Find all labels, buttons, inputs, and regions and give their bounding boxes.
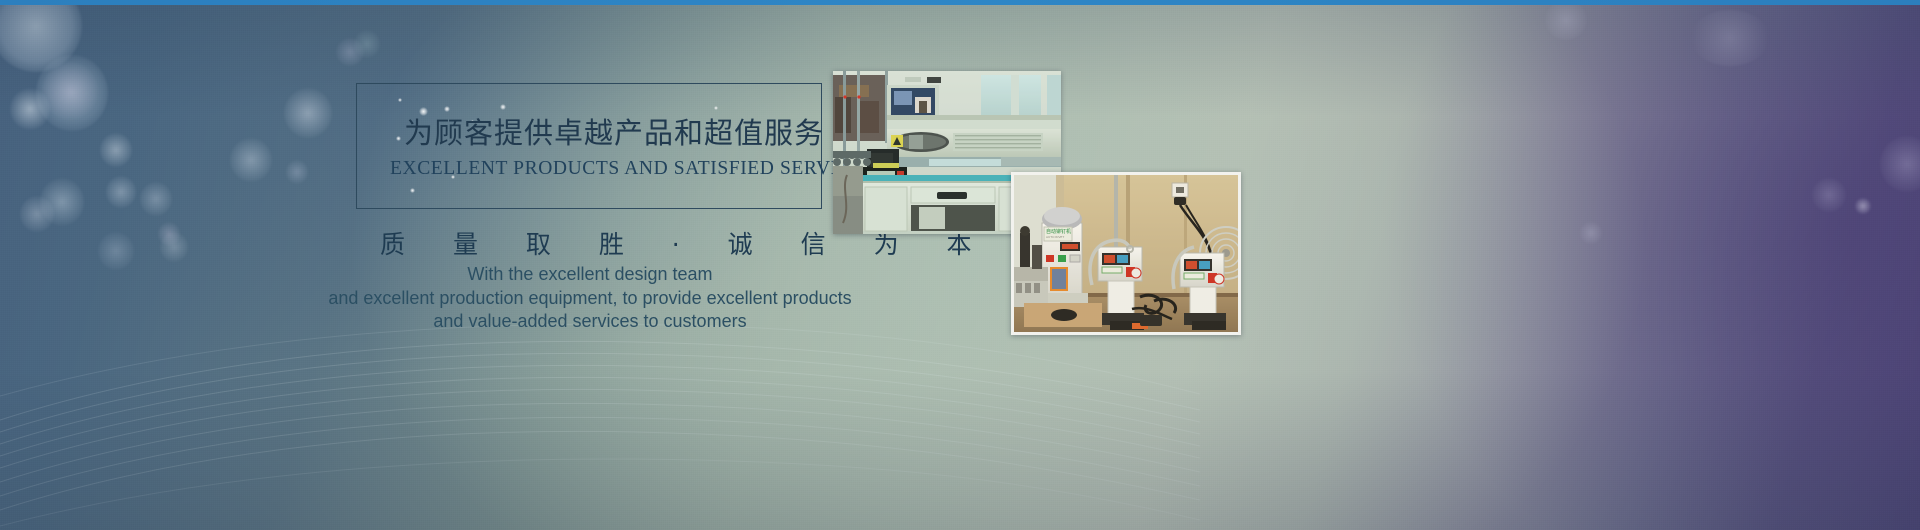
description-line-3: and value-added services to customers: [230, 310, 950, 334]
headline-english: EXCELLENT PRODUCTS AND SATISFIED SERVICE: [390, 158, 824, 180]
headline-chinese: 为顾客提供卓越产品和超值服务: [404, 110, 824, 152]
description-line-2: and excellent production equipment, to p…: [230, 287, 950, 311]
description-line-1: With the excellent design team: [230, 263, 950, 287]
slogan-chinese: 质 量 取 胜 · 诚 信 为 本: [360, 225, 820, 261]
photo-press-machines[interactable]: 自动铆钉机 AUTO RIVET: [1011, 172, 1241, 335]
description-paragraph: With the excellent design team and excel…: [230, 263, 950, 334]
hero-banner: 为顾客提供卓越产品和超值服务 EXCELLENT PRODUCTS AND SA…: [0, 0, 1920, 530]
